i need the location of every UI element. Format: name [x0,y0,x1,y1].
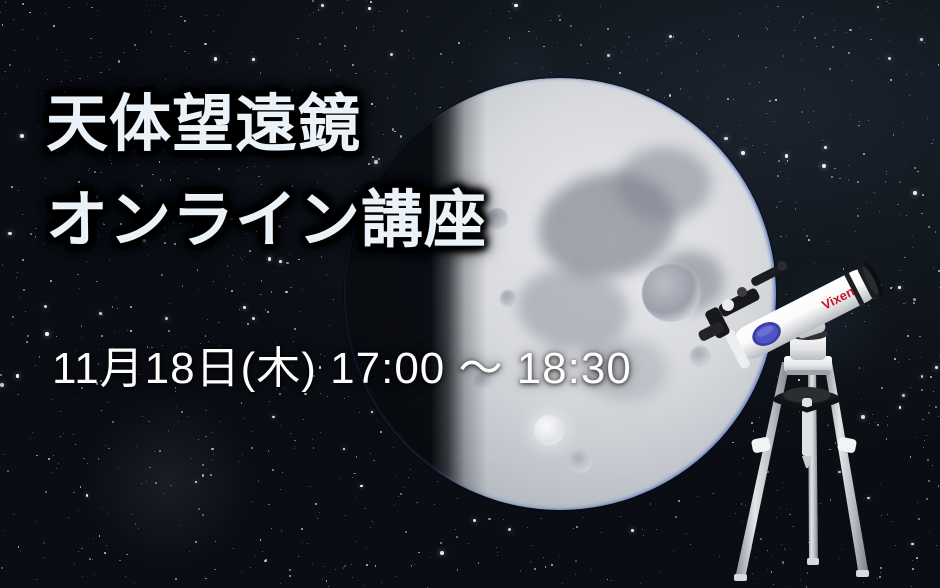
event-date: 11月18日(木) [52,344,317,393]
poster-canvas: Vixen 天体望遠鏡 オンライン講座 11月18日(木) 1 [0,0,940,588]
tripod [734,356,869,581]
title-line-2: オンライン講座 [46,180,487,262]
schedule-block: 11月18日(木) 17:00 〜 18:30 [52,336,632,402]
page-title: 天体望遠鏡 オンライン講座 [46,84,487,262]
event-time: 17:00 〜 18:30 [330,344,632,393]
telescope-illustration: Vixen [690,222,940,588]
telescope-image: Vixen [690,222,940,588]
title-line-1: 天体望遠鏡 [46,84,487,166]
